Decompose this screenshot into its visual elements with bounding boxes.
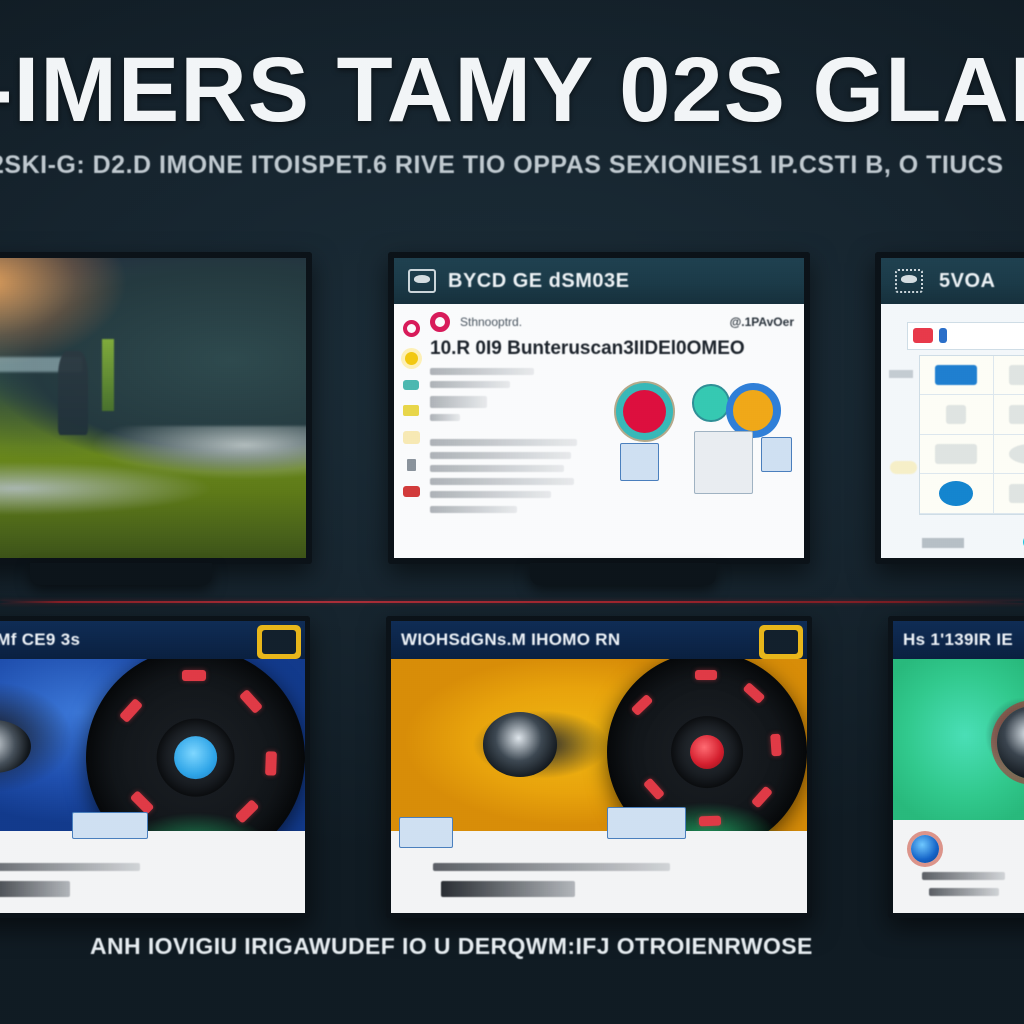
disc-pip bbox=[182, 670, 206, 681]
chip-red-icon[interactable] bbox=[913, 328, 933, 343]
footer-label bbox=[0, 881, 70, 897]
monitor-stand-dashboard bbox=[530, 563, 716, 585]
app-logo-icon bbox=[895, 269, 923, 293]
status-orb-icon[interactable] bbox=[911, 835, 939, 863]
disc-pip bbox=[631, 694, 654, 716]
grid-table[interactable] bbox=[919, 355, 1024, 515]
gauge-crimson-fill bbox=[623, 390, 666, 433]
gauge-teal[interactable] bbox=[694, 386, 727, 419]
media-panel-green: Hs 1'139IR IE bbox=[893, 621, 1024, 913]
lens-icon bbox=[483, 712, 558, 776]
monitor-bezel: Hs 1'139IR IE bbox=[888, 616, 1024, 918]
square-cream-icon[interactable] bbox=[403, 431, 420, 444]
monitor-screen: WIOHSdGNs.M IHOMO RN bbox=[391, 621, 807, 913]
media-footer bbox=[893, 820, 1024, 913]
gauge-amber[interactable] bbox=[726, 383, 781, 438]
pause-icon[interactable] bbox=[407, 459, 416, 471]
display-wall-scene: -IMERS TAMY 02S GLADI 2SKI-G: D2.D IMONE… bbox=[0, 0, 1024, 1024]
monitor-media-blue[interactable]: CTMf CE9 3s bbox=[0, 616, 310, 918]
grid-footer-label bbox=[922, 538, 963, 548]
disc-dial-blue[interactable] bbox=[86, 659, 305, 837]
grid-cell[interactable] bbox=[920, 474, 994, 514]
media-title: CTMf CE9 3s bbox=[0, 630, 80, 650]
status-ring-icon bbox=[430, 312, 450, 332]
monitor-bezel: CTMf CE9 3s bbox=[0, 616, 310, 918]
meta-label: Sthnooptrd. bbox=[460, 315, 522, 329]
footer-label bbox=[441, 881, 576, 897]
grid-cell[interactable] bbox=[994, 474, 1024, 514]
grid-canvas bbox=[881, 304, 1024, 558]
grid-cell[interactable] bbox=[994, 356, 1024, 396]
page-title: -IMERS TAMY 02S GLADI bbox=[0, 44, 1024, 136]
page-caption: ANH IOVIGIU IRIGAWUDEF IO U DERQWM:IFJ O… bbox=[90, 933, 810, 960]
cell-ghost-icon bbox=[1009, 484, 1024, 503]
landscape-path bbox=[0, 426, 306, 546]
disc-pip bbox=[119, 698, 143, 723]
footer-label bbox=[922, 872, 1005, 880]
thumbnail-blue-2[interactable] bbox=[761, 437, 792, 472]
badge-icon[interactable] bbox=[759, 625, 803, 659]
badge-icon[interactable] bbox=[257, 625, 301, 659]
grid-cell[interactable] bbox=[994, 435, 1024, 475]
monitor-screen: 5VOA bbox=[881, 258, 1024, 558]
panel-heading: 10.R 0I9 Bunteruscan3IIDEl0OMEO bbox=[430, 338, 794, 360]
app-titlebar: 5VOA bbox=[881, 258, 1024, 304]
landscape-photo bbox=[0, 258, 306, 558]
app-titlebar: BYCD GE dSM03E bbox=[394, 258, 804, 304]
meta-row: Sthnooptrd. @.1PAvOer bbox=[430, 312, 794, 332]
grid-app: 5VOA bbox=[881, 258, 1024, 558]
meta-value: @.1PAvOer bbox=[730, 315, 794, 329]
thumbnail-grid[interactable] bbox=[694, 431, 753, 494]
dashboard-app: BYCD GE dSM03E bbox=[394, 258, 804, 558]
cell-blue-icon bbox=[935, 365, 977, 384]
monitor-landscape[interactable] bbox=[0, 252, 312, 564]
disc-pip bbox=[265, 751, 277, 775]
section-divider bbox=[0, 601, 1024, 603]
footer-subline bbox=[433, 863, 671, 871]
media-footer bbox=[391, 831, 807, 913]
monitor-grid[interactable]: 5VOA bbox=[875, 252, 1024, 564]
chip-blue-small-icon[interactable] bbox=[939, 328, 947, 343]
cell-ghost-icon bbox=[946, 405, 966, 424]
monitor-bezel: WIOHSdGNs.M IHOMO RN bbox=[386, 616, 812, 918]
monitor-bezel: BYCD GE dSM03E bbox=[388, 252, 810, 564]
disc-core bbox=[690, 735, 724, 769]
footer-thumbnail-2[interactable] bbox=[607, 807, 686, 840]
app-title: 5VOA bbox=[939, 270, 995, 293]
ring-icon[interactable] bbox=[403, 320, 420, 337]
media-title: Hs 1'139IR IE bbox=[903, 630, 1013, 650]
disc-pip bbox=[695, 670, 717, 680]
cell-dot-blue-icon bbox=[939, 481, 973, 506]
monitor-bezel bbox=[0, 252, 312, 564]
grid-cell[interactable] bbox=[920, 435, 994, 475]
monitor-screen: BYCD GE dSM03E bbox=[394, 258, 804, 558]
record-icon[interactable] bbox=[403, 486, 420, 497]
disc-pip bbox=[239, 689, 263, 714]
disc-pip bbox=[770, 733, 781, 756]
cell-ghost-icon bbox=[1009, 444, 1024, 463]
app-title: BYCD GE dSM03E bbox=[448, 270, 629, 293]
media-title: WIOHSdGNs.M IHOMO RN bbox=[401, 630, 620, 650]
grid-cell[interactable] bbox=[920, 395, 994, 435]
grid-app-body bbox=[881, 304, 1024, 558]
scissors-icon[interactable] bbox=[403, 405, 419, 416]
media-panel-blue: CTMf CE9 3s bbox=[0, 621, 305, 913]
monitor-stand-landscape bbox=[30, 563, 212, 585]
badge-teal-icon[interactable] bbox=[403, 380, 419, 390]
cell-ghost-icon bbox=[1009, 365, 1024, 384]
monitor-screen bbox=[0, 258, 306, 558]
grid-side-pill bbox=[890, 461, 916, 474]
media-artwork bbox=[391, 659, 807, 837]
monitor-screen: CTMf CE9 3s bbox=[0, 621, 305, 913]
media-titlebar: WIOHSdGNs.M IHOMO RN bbox=[391, 621, 807, 659]
monitor-media-yellow[interactable]: WIOHSdGNs.M IHOMO RN bbox=[386, 616, 812, 918]
footer-thumbnail[interactable] bbox=[399, 817, 453, 848]
thumbnail-blue[interactable] bbox=[620, 443, 659, 481]
dot-yellow-icon[interactable] bbox=[405, 352, 418, 365]
cell-ghost-icon bbox=[935, 444, 977, 463]
footer-thumbnail[interactable] bbox=[72, 812, 147, 840]
app-body: Sthnooptrd. @.1PAvOer 10.R 0I9 Bunterusc… bbox=[394, 304, 804, 558]
footer-subline bbox=[0, 863, 140, 871]
disc-pip bbox=[699, 815, 721, 826]
media-artwork bbox=[893, 659, 1024, 825]
monitor-dashboard[interactable]: BYCD GE dSM03E bbox=[388, 252, 810, 564]
cell-ghost-icon bbox=[1009, 405, 1024, 424]
grid-toolbar[interactable] bbox=[907, 322, 1024, 350]
monitor-screen: Hs 1'139IR IE bbox=[893, 621, 1024, 913]
grid-cell[interactable] bbox=[994, 395, 1024, 435]
disc-core bbox=[174, 736, 218, 780]
grid-side-label bbox=[889, 370, 913, 378]
ghost-text-block bbox=[430, 368, 597, 513]
landscape-figure bbox=[58, 351, 89, 435]
media-footer bbox=[0, 831, 305, 913]
app-logo-icon bbox=[408, 269, 436, 293]
media-panel-yellow: WIOHSdGNs.M IHOMO RN bbox=[391, 621, 807, 913]
grid-cell[interactable] bbox=[920, 356, 994, 396]
page-subtitle: 2SKI-G: D2.D IMONE ITOISPET.6 RIVE TIO O… bbox=[0, 148, 1024, 182]
media-artwork bbox=[0, 659, 305, 837]
gauge-amber-fill bbox=[733, 390, 774, 431]
footer-subline bbox=[929, 888, 999, 896]
app-main: Sthnooptrd. @.1PAvOer 10.R 0I9 Bunterusc… bbox=[428, 304, 804, 558]
gauge-crimson[interactable] bbox=[616, 383, 673, 440]
monitor-bezel: 5VOA bbox=[875, 252, 1024, 564]
monitor-media-green[interactable]: Hs 1'139IR IE bbox=[888, 616, 1024, 918]
gauge-cluster bbox=[608, 380, 804, 537]
media-titlebar: Hs 1'139IR IE bbox=[893, 621, 1024, 659]
app-sidebar[interactable] bbox=[394, 304, 428, 558]
landscape-post bbox=[102, 339, 114, 411]
disc-pip bbox=[743, 682, 766, 704]
